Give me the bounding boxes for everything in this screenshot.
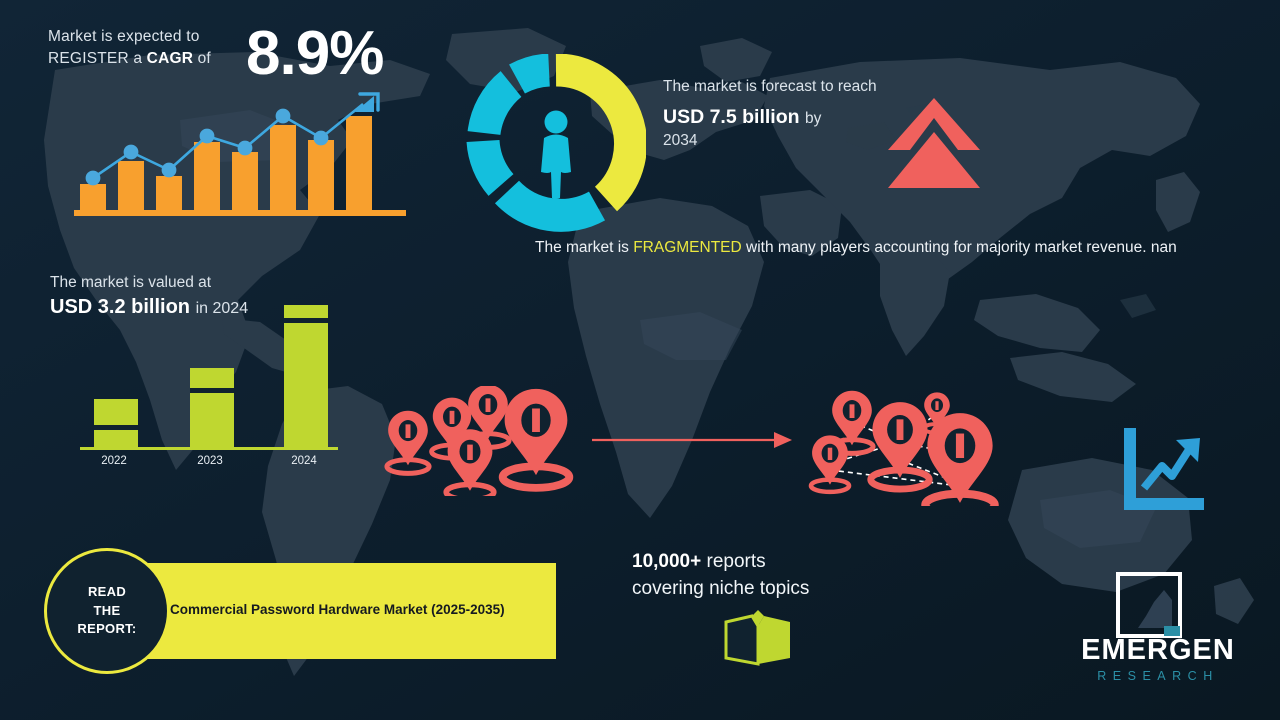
forecast-lead-text: The market is forecast to reach — [663, 76, 893, 98]
reports-count-callout: 10,000+ reports covering niche topics — [632, 549, 892, 602]
read-the-report-label: READTHEREPORT: — [77, 583, 136, 640]
cagr-lead-line1: Market is expected to — [48, 28, 200, 45]
fragmentation-statement: The market is FRAGMENTED with many playe… — [535, 237, 1207, 259]
logo-name: EMERGEN — [1060, 634, 1256, 667]
right-arrow-icon — [592, 428, 792, 452]
map-pin-person-icon — [925, 413, 994, 506]
double-chevron-up-icon — [884, 92, 984, 192]
forecast-callout: The market is forecast to reach USD 7.5 … — [663, 76, 893, 151]
read-the-report-button[interactable]: READTHEREPORT: — [44, 548, 170, 674]
bar-2022-divider — [94, 425, 138, 430]
fragmentation-pre: The market is — [535, 239, 633, 256]
donut-slice-4 — [517, 70, 549, 79]
scattered-market-pins — [378, 386, 578, 496]
bar-label-2024: 2024 — [281, 455, 327, 467]
forecast-value: USD 7.5 billion by — [663, 104, 893, 130]
map-pin-person-icon — [811, 435, 849, 492]
reports-count-suffix: reports — [701, 551, 765, 572]
logo-subtitle: RESEARCH — [1060, 669, 1256, 683]
bar-2024 — [284, 305, 328, 447]
bar-2024-divider — [284, 318, 328, 323]
person-icon — [541, 111, 571, 200]
map-pin-person-icon — [387, 411, 429, 474]
forecast-amount: USD 7.5 billion — [663, 106, 800, 128]
cagr-lead-line2-pre: REGISTER a — [48, 50, 147, 67]
bar-2022 — [94, 399, 138, 447]
square-chart-mark-icon — [1116, 572, 1182, 638]
cagr-value: 8.9% — [246, 18, 383, 89]
donut-slice-2 — [483, 141, 501, 185]
bar-label-2023: 2023 — [187, 455, 233, 467]
forecast-year: 2034 — [663, 131, 893, 151]
map-pin-person-icon — [871, 402, 929, 489]
cagr-label: CAGR — [147, 50, 193, 67]
open-book-icon — [718, 608, 798, 668]
reports-count-line: 10,000+ reports — [632, 549, 892, 576]
fragmentation-post: with many players accounting for majorit… — [742, 239, 1177, 256]
emergen-research-logo: EMERGEN RESEARCH — [1060, 572, 1256, 688]
bar-2023-divider — [190, 388, 234, 393]
cta-line3: REPORT: — [77, 621, 136, 636]
trend-bars — [80, 116, 372, 210]
fragmentation-highlight: FRAGMENTED — [633, 239, 742, 256]
donut-slice-3 — [484, 84, 511, 133]
valuation-bar-chart — [80, 296, 342, 472]
bar-2023 — [190, 368, 234, 447]
trend-baseline — [74, 210, 406, 216]
market-share-donut — [466, 54, 646, 234]
forecast-by-word: by — [805, 110, 821, 127]
valuation-lead-text: The market is valued at — [50, 274, 350, 292]
growth-arrow-chart-icon — [1118, 426, 1206, 514]
networked-market-pins — [800, 384, 1012, 506]
cagr-lead-text: Market is expected to REGISTER a CAGR of — [48, 26, 244, 70]
cta-line1: READ — [88, 584, 126, 599]
donut-slice-leading — [556, 70, 630, 199]
valuation-baseline — [80, 447, 338, 450]
report-title[interactable]: Commercial Password Hardware Market (202… — [170, 597, 526, 623]
trend-bar-chart — [74, 82, 410, 218]
reports-count-value: 10,000+ — [632, 551, 701, 572]
trend-arrow-head — [355, 96, 374, 112]
bar-label-2022: 2022 — [91, 455, 137, 467]
reports-subtitle: covering niche topics — [632, 576, 892, 603]
map-pin-person-icon — [503, 389, 570, 488]
cagr-lead-line2-post: of — [193, 50, 211, 67]
infographic-canvas: Market is expected to REGISTER a CAGR of… — [0, 0, 1280, 720]
map-pin-person-icon — [446, 429, 494, 496]
cta-line2: THE — [94, 603, 121, 618]
